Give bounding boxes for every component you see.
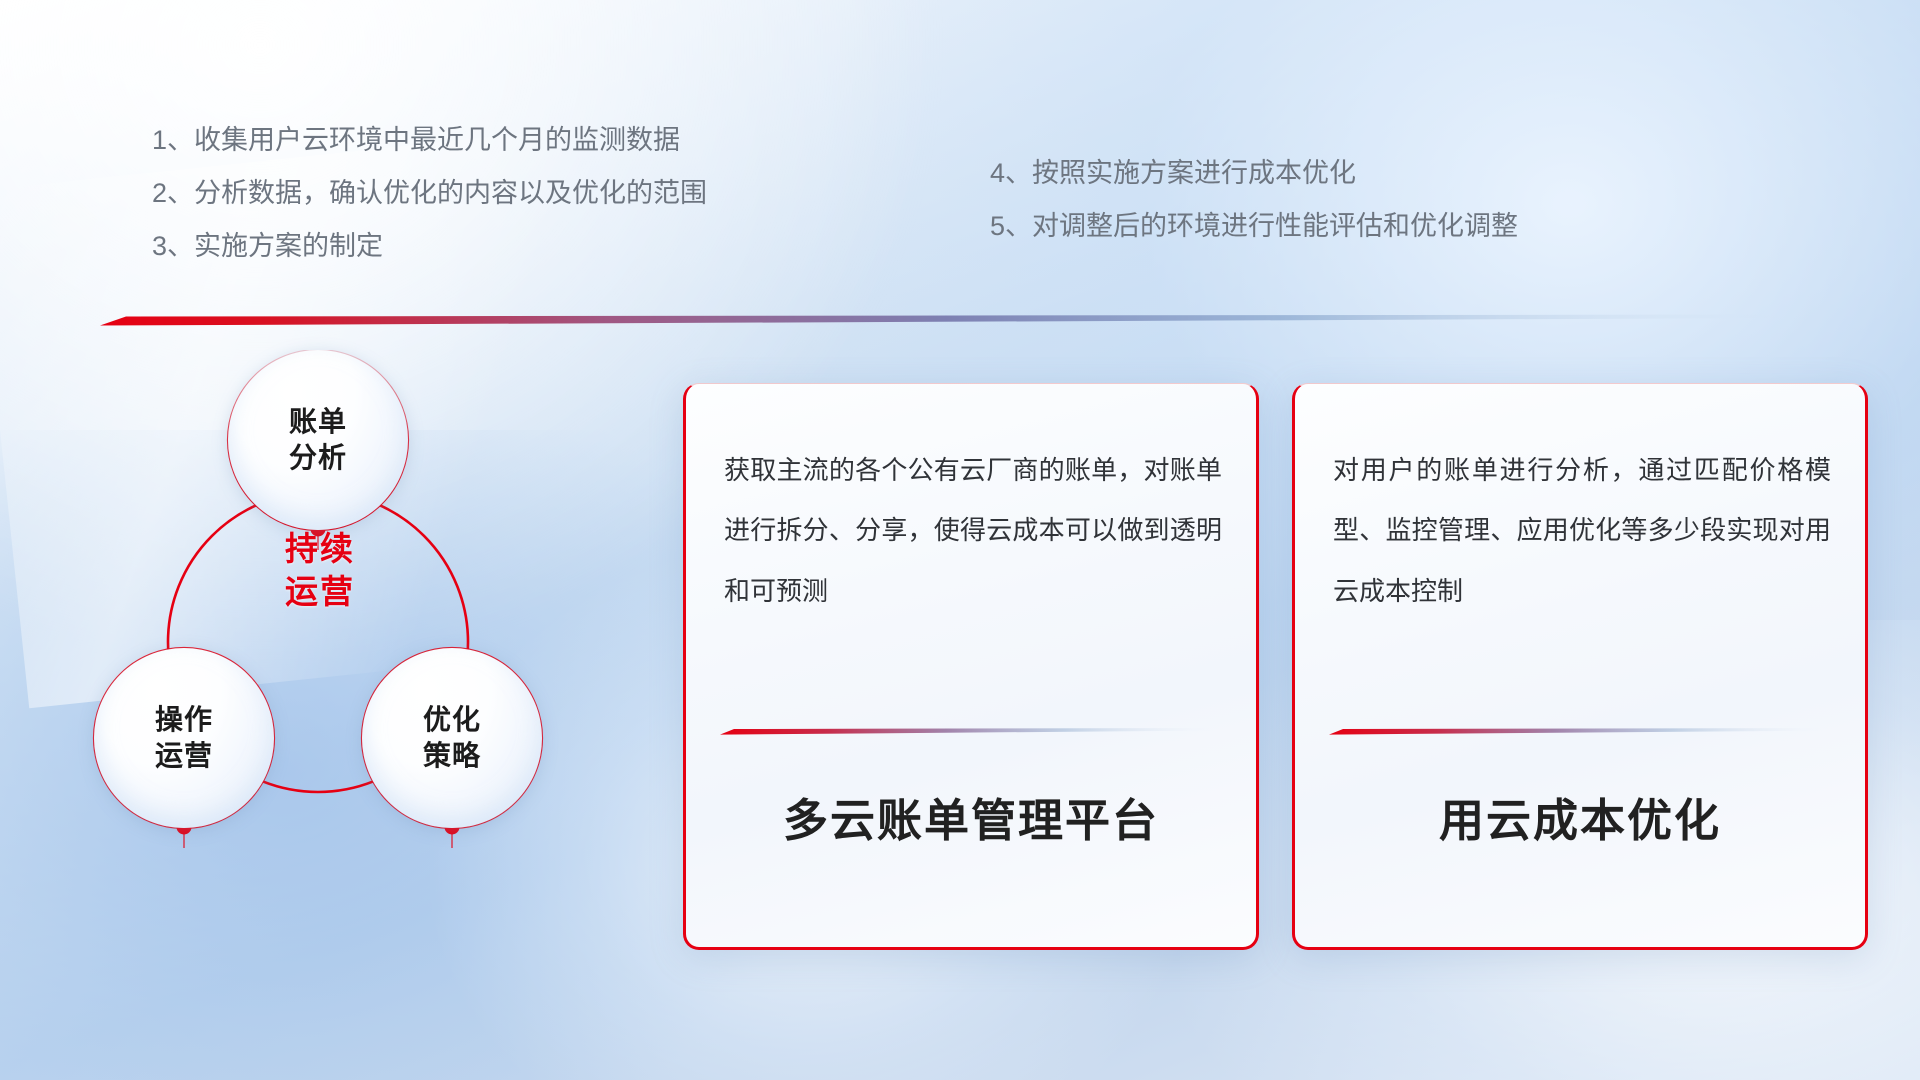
slide-canvas: 1、收集用户云环境中最近几个月的监测数据 2、分析数据，确认优化的内容以及优化的… xyxy=(0,0,1920,1080)
card-title: 多云账单管理平台 xyxy=(686,784,1256,849)
card-body-text: 对用户的账单进行分析，通过匹配价格模型、监控管理、应用优化等多少段实现对用云成本… xyxy=(1333,440,1831,621)
bubble-label: 账单分析 xyxy=(289,404,347,476)
bubble-label: 优化策略 xyxy=(423,702,481,774)
card-accent-rule xyxy=(720,728,1212,735)
continuous-operation-diagram: 账单分析 操作运营 优化策略 持续 运营 xyxy=(80,350,640,950)
center-label-line-1: 持续 xyxy=(240,528,400,571)
card-body-text: 获取主流的各个公有云厂商的账单，对账单进行拆分、分享，使得云成本可以做到透明和可… xyxy=(724,440,1222,621)
step-item-1: 1、收集用户云环境中最近几个月的监测数据 xyxy=(152,127,707,154)
card-accent-rule xyxy=(1329,728,1821,735)
card-cloud-cost-optimization[interactable]: 对用户的账单进行分析，通过匹配价格模型、监控管理、应用优化等多少段实现对用云成本… xyxy=(1292,383,1868,950)
bubble-optimization-strategy[interactable]: 优化策略 xyxy=(362,648,542,828)
steps-list-left: 1、收集用户云环境中最近几个月的监测数据 2、分析数据，确认优化的内容以及优化的… xyxy=(152,127,707,286)
step-item-5: 5、对调整后的环境进行性能评估和优化调整 xyxy=(990,213,1518,240)
step-item-3: 3、实施方案的制定 xyxy=(152,233,707,260)
bubble-operations[interactable]: 操作运营 xyxy=(94,648,274,828)
step-item-4: 4、按照实施方案进行成本优化 xyxy=(990,160,1518,187)
center-label-line-2: 运营 xyxy=(240,571,400,614)
bubble-bill-analysis[interactable]: 账单分析 xyxy=(228,350,408,530)
diagram-center-label: 持续 运营 xyxy=(240,528,400,614)
bubble-label: 操作运营 xyxy=(155,702,213,774)
steps-list-right: 4、按照实施方案进行成本优化 5、对调整后的环境进行性能评估和优化调整 xyxy=(990,160,1518,266)
card-multicloud-billing-platform[interactable]: 获取主流的各个公有云厂商的账单，对账单进行拆分、分享，使得云成本可以做到透明和可… xyxy=(683,383,1259,950)
step-item-2: 2、分析数据，确认优化的内容以及优化的范围 xyxy=(152,180,707,207)
section-divider xyxy=(100,314,1792,326)
card-title: 用云成本优化 xyxy=(1295,784,1865,849)
